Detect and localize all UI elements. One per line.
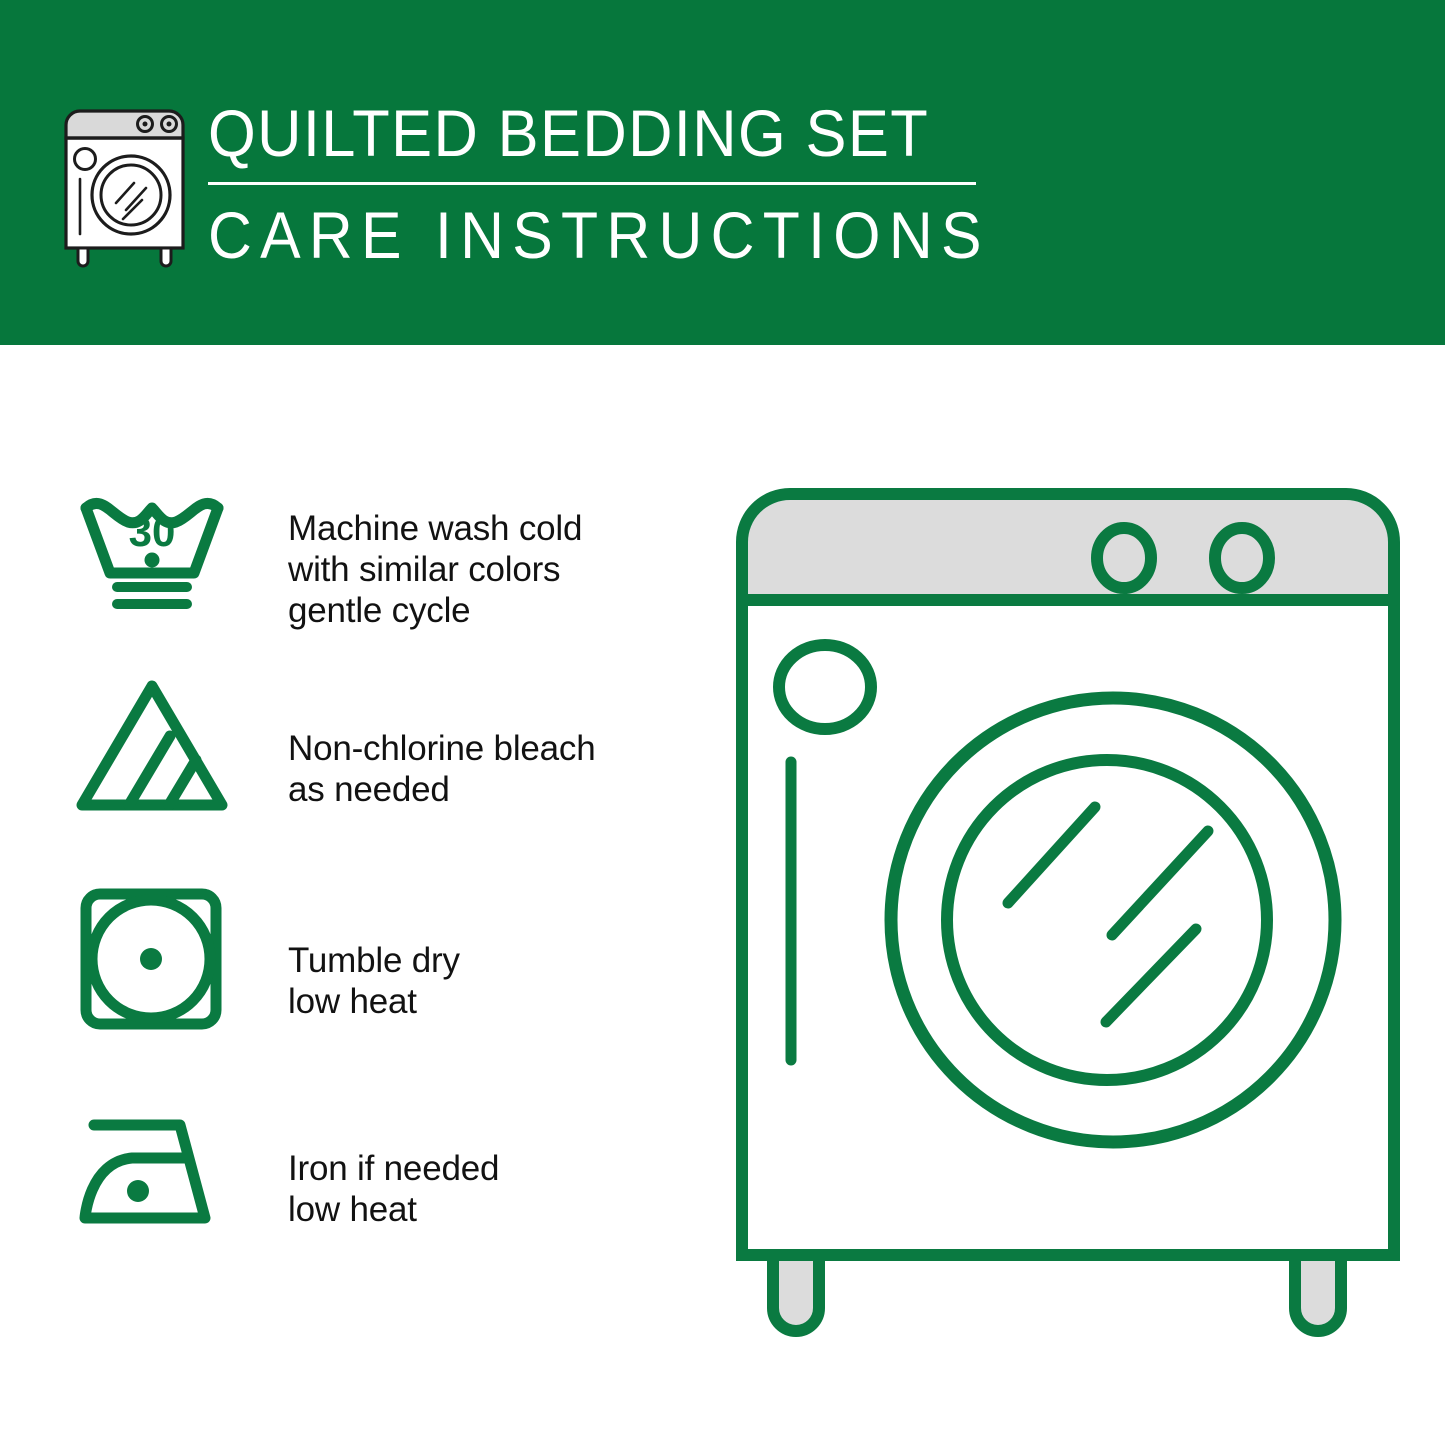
care-label-machine-wash: Machine wash cold with similar colors ge… xyxy=(288,508,688,631)
care-label-line: with similar colors xyxy=(288,549,688,590)
care-label-line: Tumble dry xyxy=(288,940,688,981)
front-load-washing-machine-illustration xyxy=(718,470,1418,1360)
non-chlorine-bleach-triangle-icon xyxy=(72,670,232,830)
page-subtitle: CARE INSTRUCTIONS xyxy=(208,199,935,271)
wash-dot xyxy=(145,553,160,568)
care-label-line: gentle cycle xyxy=(288,590,688,631)
tumble-dry-heat-dot xyxy=(140,948,162,970)
care-row-bleach: Non-chlorine bleach as needed xyxy=(0,670,700,880)
iron-low-heat-icon xyxy=(72,1090,232,1250)
gentle-bar-1 xyxy=(112,582,192,592)
header-banner: QUILTED BEDDING SET CARE INSTRUCTIONS xyxy=(0,0,1445,345)
page-title: QUILTED BEDDING SET xyxy=(208,96,943,170)
care-row-tumble-dry: Tumble dry low heat xyxy=(0,880,700,1090)
care-label-line: as needed xyxy=(288,769,688,810)
care-label-line: Non-chlorine bleach xyxy=(288,728,688,769)
care-row-iron: Iron if needed low heat xyxy=(0,1090,700,1300)
care-label-bleach: Non-chlorine bleach as needed xyxy=(288,728,688,810)
care-label-tumble-dry: Tumble dry low heat xyxy=(288,940,688,1022)
tumble-dry-low-icon xyxy=(72,880,232,1040)
care-label-iron: Iron if needed low heat xyxy=(288,1148,688,1230)
care-row-machine-wash: 30 Machine wash cold with similar colors… xyxy=(0,460,700,670)
wash-temperature-value: 30 xyxy=(129,508,176,555)
wash-tub-30-icon: 30 xyxy=(72,460,232,620)
header-title-block: QUILTED BEDDING SET CARE INSTRUCTIONS xyxy=(208,96,998,271)
washing-machine-logo-icon xyxy=(58,103,198,268)
title-divider xyxy=(208,182,976,185)
gentle-bar-2 xyxy=(112,599,192,609)
care-label-line: Iron if needed xyxy=(288,1148,688,1189)
care-label-line: low heat xyxy=(288,981,688,1022)
iron-heat-dot xyxy=(127,1180,149,1202)
care-instructions-infographic: QUILTED BEDDING SET CARE INSTRUCTIONS 30 xyxy=(0,0,1445,1445)
care-label-line: Machine wash cold xyxy=(288,508,688,549)
care-label-line: low heat xyxy=(288,1189,688,1230)
control-panel xyxy=(742,494,1394,600)
care-instruction-list: 30 Machine wash cold with similar colors… xyxy=(0,460,700,1300)
